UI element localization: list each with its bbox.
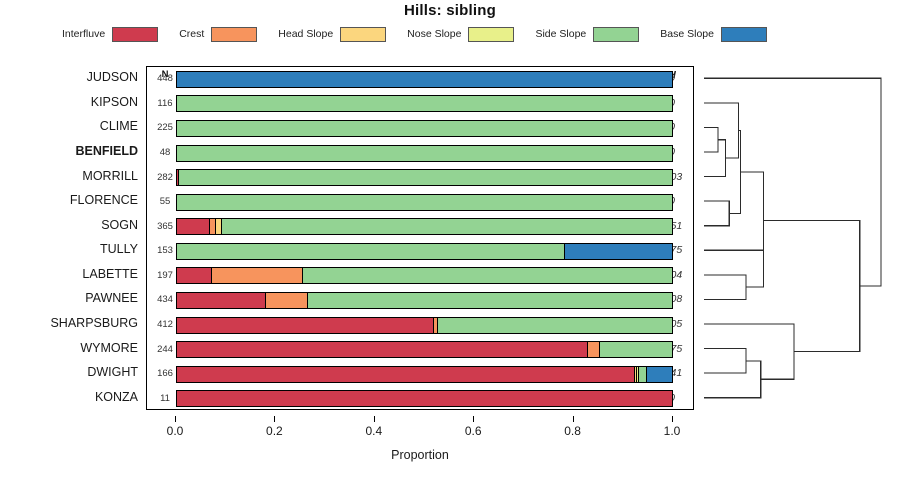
x-tick-label: 0.2 (251, 424, 297, 438)
x-tick (573, 416, 574, 422)
chart-root: Hills: sibling InterfluveCrestHead Slope… (0, 0, 900, 480)
legend-label: Base Slope (660, 28, 714, 40)
n-value-wymore: 244 (151, 344, 179, 355)
y-axis-label-dwight: DWIGHT (0, 365, 138, 379)
legend-label: Side Slope (535, 28, 586, 40)
x-tick (473, 416, 474, 422)
x-tick-label: 0.6 (450, 424, 496, 438)
stacked-bar-sogn[interactable] (176, 218, 673, 235)
dendrogram-link (704, 361, 761, 398)
dendrogram-link (704, 349, 746, 374)
n-value-sharpsburg: 412 (151, 319, 179, 330)
y-axis-label-clime: CLIME (0, 119, 138, 133)
n-value-clime: 225 (151, 122, 179, 133)
legend-swatch (112, 27, 158, 42)
legend-swatch (340, 27, 386, 42)
bar-segment-base-slope[interactable] (177, 72, 672, 87)
bar-segment-base-slope[interactable] (647, 367, 671, 382)
n-value-labette: 197 (151, 270, 179, 281)
bar-rows: NH4480116022504802820.035503650.511530.7… (147, 67, 695, 411)
bar-segment-side-slope[interactable] (639, 367, 647, 382)
stacked-bar-morrill[interactable] (176, 169, 673, 186)
n-value-florence: 55 (151, 196, 179, 207)
stacked-bar-tully[interactable] (176, 243, 673, 260)
y-axis-label-wymore: WYMORE (0, 341, 138, 355)
n-value-benfield: 48 (151, 147, 179, 158)
bar-segment-side-slope[interactable] (177, 146, 672, 161)
y-axis-label-sharpsburg: SHARPSBURG (0, 316, 138, 330)
bar-segment-interfluve[interactable] (177, 318, 434, 333)
stacked-bar-benfield[interactable] (176, 145, 673, 162)
stacked-bar-konza[interactable] (176, 390, 673, 407)
dendrogram-link (704, 250, 764, 287)
dendrogram-svg (700, 66, 896, 410)
stacked-bar-clime[interactable] (176, 120, 673, 137)
bar-segment-interfluve[interactable] (177, 268, 212, 283)
bar-segment-side-slope[interactable] (177, 244, 565, 259)
legend-swatch (593, 27, 639, 42)
bar-segment-side-slope[interactable] (308, 293, 672, 308)
n-value-sogn: 365 (151, 221, 179, 232)
y-axis-label-morrill: MORRILL (0, 169, 138, 183)
legend-item-nose-slope: Nose Slope (407, 27, 514, 42)
legend-label: Nose Slope (407, 28, 461, 40)
bar-segment-side-slope[interactable] (177, 121, 672, 136)
y-axis-label-tully: TULLY (0, 242, 138, 256)
y-axis-label-florence: FLORENCE (0, 193, 138, 207)
y-axis-label-konza: KONZA (0, 390, 138, 404)
dendrogram-link (704, 140, 726, 177)
plot-panel: NH4480116022504802820.035503650.511530.7… (146, 66, 694, 410)
bar-segment-interfluve[interactable] (177, 391, 672, 406)
legend-label: Interfluve (62, 28, 105, 40)
y-axis-label-labette: LABETTE (0, 267, 138, 281)
legend: InterfluveCrestHead SlopeNose SlopeSide … (62, 24, 792, 44)
x-tick (374, 416, 375, 422)
bar-segment-side-slope[interactable] (179, 170, 672, 185)
dendrogram-link (704, 201, 729, 226)
bar-segment-interfluve[interactable] (177, 367, 635, 382)
chart-title: Hills: sibling (0, 2, 900, 19)
bar-segment-interfluve[interactable] (177, 219, 210, 234)
bar-segment-crest[interactable] (266, 293, 308, 308)
x-tick-label: 0.0 (152, 424, 198, 438)
stacked-bar-sharpsburg[interactable] (176, 317, 673, 334)
x-tick (672, 416, 673, 422)
stacked-bar-florence[interactable] (176, 194, 673, 211)
n-value-kipson: 116 (151, 98, 179, 109)
legend-swatch (211, 27, 257, 42)
bar-segment-interfluve[interactable] (177, 342, 588, 357)
n-value-tully: 153 (151, 245, 179, 256)
legend-item-side-slope: Side Slope (535, 27, 639, 42)
n-value-pawnee: 434 (151, 294, 179, 305)
bar-segment-side-slope[interactable] (303, 268, 671, 283)
bar-segment-side-slope[interactable] (600, 342, 672, 357)
legend-item-base-slope: Base Slope (660, 27, 767, 42)
legend-item-interfluve: Interfluve (62, 27, 158, 42)
x-axis-title: Proportion (146, 448, 694, 462)
stacked-bar-kipson[interactable] (176, 95, 673, 112)
bar-segment-side-slope[interactable] (177, 96, 672, 111)
n-value-morrill: 282 (151, 172, 179, 183)
bar-segment-interfluve[interactable] (177, 293, 266, 308)
x-tick-label: 0.4 (351, 424, 397, 438)
dendrogram-link (704, 78, 881, 286)
stacked-bar-judson[interactable] (176, 71, 673, 88)
x-tick (175, 416, 176, 422)
legend-swatch (721, 27, 767, 42)
bar-segment-side-slope[interactable] (222, 219, 672, 234)
dendrogram-link (764, 220, 860, 351)
legend-label: Head Slope (278, 28, 333, 40)
y-axis-label-sogn: SOGN (0, 218, 138, 232)
dendrogram (700, 66, 896, 410)
x-tick-label: 1.0 (649, 424, 695, 438)
stacked-bar-dwight[interactable] (176, 366, 673, 383)
bar-segment-side-slope[interactable] (438, 318, 671, 333)
y-axis-label-benfield: BENFIELD (0, 144, 138, 158)
stacked-bar-wymore[interactable] (176, 341, 673, 358)
legend-item-crest: Crest (179, 27, 257, 42)
y-axis-label-kipson: KIPSON (0, 95, 138, 109)
y-axis-label-pawnee: PAWNEE (0, 291, 138, 305)
bar-segment-crest[interactable] (212, 268, 304, 283)
legend-swatch (468, 27, 514, 42)
y-axis-labels: JUDSONKIPSONCLIMEBENFIELDMORRILLFLORENCE… (0, 66, 143, 410)
legend-item-head-slope: Head Slope (278, 27, 386, 42)
x-tick-label: 0.8 (550, 424, 596, 438)
n-value-dwight: 166 (151, 368, 179, 379)
dendrogram-link (704, 275, 746, 300)
dendrogram-link (704, 127, 718, 152)
n-value-konza: 11 (151, 393, 179, 404)
bar-segment-base-slope[interactable] (565, 244, 671, 259)
bar-segment-crest[interactable] (588, 342, 600, 357)
n-value-judson: 448 (151, 73, 179, 84)
dendrogram-link (704, 103, 739, 158)
y-axis-label-judson: JUDSON (0, 70, 138, 84)
dendrogram-link (704, 324, 794, 379)
stacked-bar-pawnee[interactable] (176, 292, 673, 309)
x-tick (274, 416, 275, 422)
bar-segment-side-slope[interactable] (177, 195, 672, 210)
stacked-bar-labette[interactable] (176, 267, 673, 284)
legend-label: Crest (179, 28, 204, 40)
dendrogram-link (740, 172, 763, 269)
